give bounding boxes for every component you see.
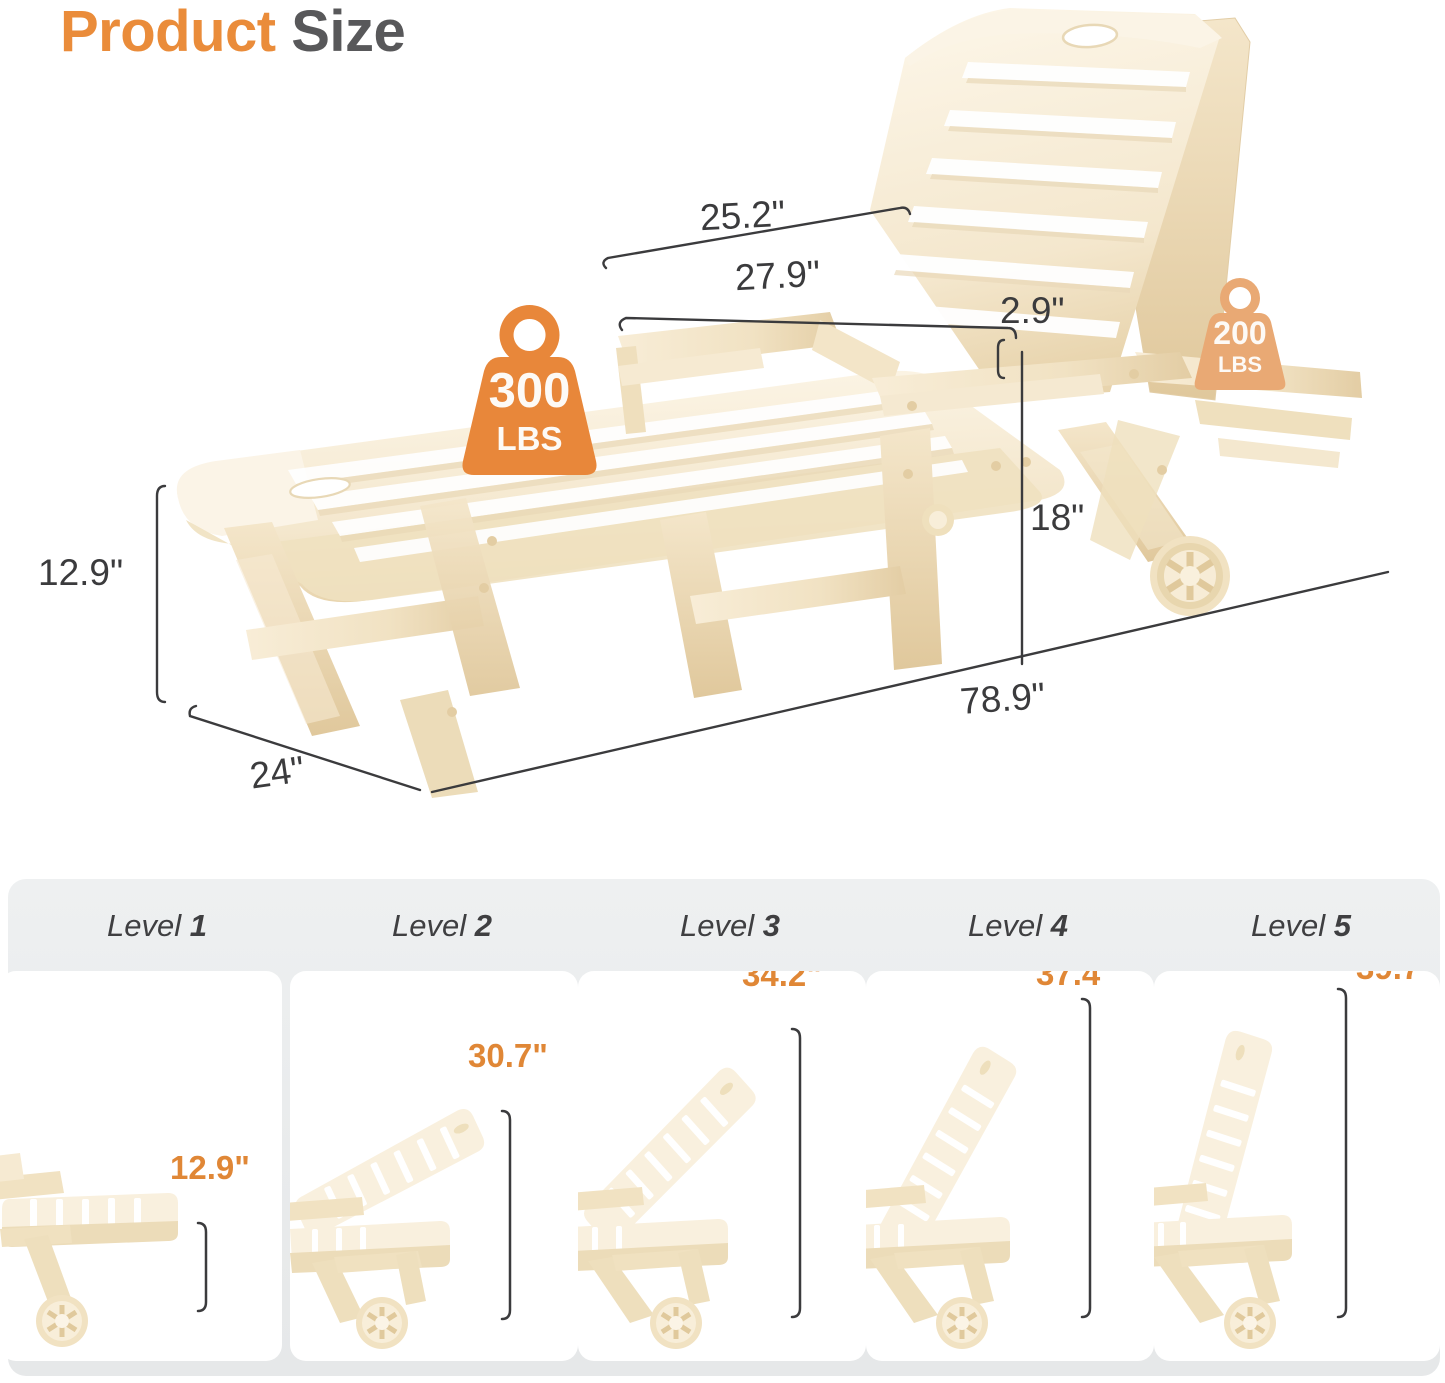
hero-product-illustration: 25.2" 27.9" 2.9" 18" 78.9" 12.9" 24" 300…	[0, 0, 1445, 860]
dimension-label-12-9: 12.9"	[38, 552, 123, 594]
level-height-3: 34.2"	[742, 971, 822, 994]
level-header-3: Level 3	[586, 908, 874, 954]
chaise-level-5-drawing	[1154, 971, 1440, 1361]
level-card-5: 39.7"	[1154, 971, 1440, 1361]
level-card-2: 30.7"	[290, 971, 578, 1361]
level-height-4: 37.4"	[1036, 971, 1116, 993]
dimension-label-24: 24"	[247, 748, 307, 797]
wheel	[1150, 536, 1230, 616]
height-bracket-3	[792, 1029, 800, 1317]
chaise-recline-42	[578, 1063, 767, 1349]
level-height-5: 39.7"	[1356, 971, 1436, 987]
recline-levels-panel: Level 1 Level 2 Level 3 Level 4 Level 5	[8, 879, 1440, 1376]
weight-badge-200: 200 LBS	[1192, 275, 1288, 393]
chaise-level-2-drawing	[290, 971, 578, 1361]
weight-badge-200-unit: LBS	[1192, 354, 1288, 376]
level-header-1: Level 1	[16, 908, 298, 954]
dimension-label-2-9: 2.9"	[1000, 290, 1065, 332]
dimension-label-18: 18"	[1030, 497, 1084, 539]
level-height-2: 30.7"	[468, 1037, 548, 1075]
weight-badge-300: 300 LBS	[459, 301, 600, 479]
height-bracket-4	[1082, 999, 1090, 1317]
level-height-1: 12.9"	[170, 1149, 250, 1187]
product-size-infographic: Product Size	[0, 0, 1445, 1383]
level-card-1: 12.9"	[0, 971, 282, 1361]
chaise-flat	[0, 1153, 178, 1347]
dimension-label-25-2: 25.2"	[699, 193, 786, 239]
weight-badge-300-number: 300	[459, 367, 600, 416]
weight-badge-300-unit: LBS	[459, 422, 600, 455]
level-header-2: Level 2	[298, 908, 586, 954]
level-header-4: Level 4	[874, 908, 1162, 954]
height-bracket-2	[502, 1111, 510, 1319]
level-header-5: Level 5	[1162, 908, 1440, 954]
level-card-4: 37.4"	[866, 971, 1154, 1361]
height-bracket-1	[198, 1223, 206, 1311]
chaise-level-4-drawing	[866, 971, 1154, 1361]
dimension-label-27-9: 27.9"	[734, 253, 821, 299]
dimension-label-78-9: 78.9"	[959, 675, 1047, 723]
level-card-3: 34.2"	[578, 971, 866, 1361]
chaise-recline-70	[1154, 1028, 1292, 1349]
weight-badge-200-number: 200	[1192, 317, 1288, 349]
chaise-level-3-drawing	[578, 971, 866, 1361]
chaise-lounge-drawing	[0, 0, 1445, 860]
height-bracket-5	[1338, 989, 1346, 1317]
chaise-recline-56	[866, 1043, 1029, 1349]
chaise-recline-28	[290, 1106, 491, 1349]
